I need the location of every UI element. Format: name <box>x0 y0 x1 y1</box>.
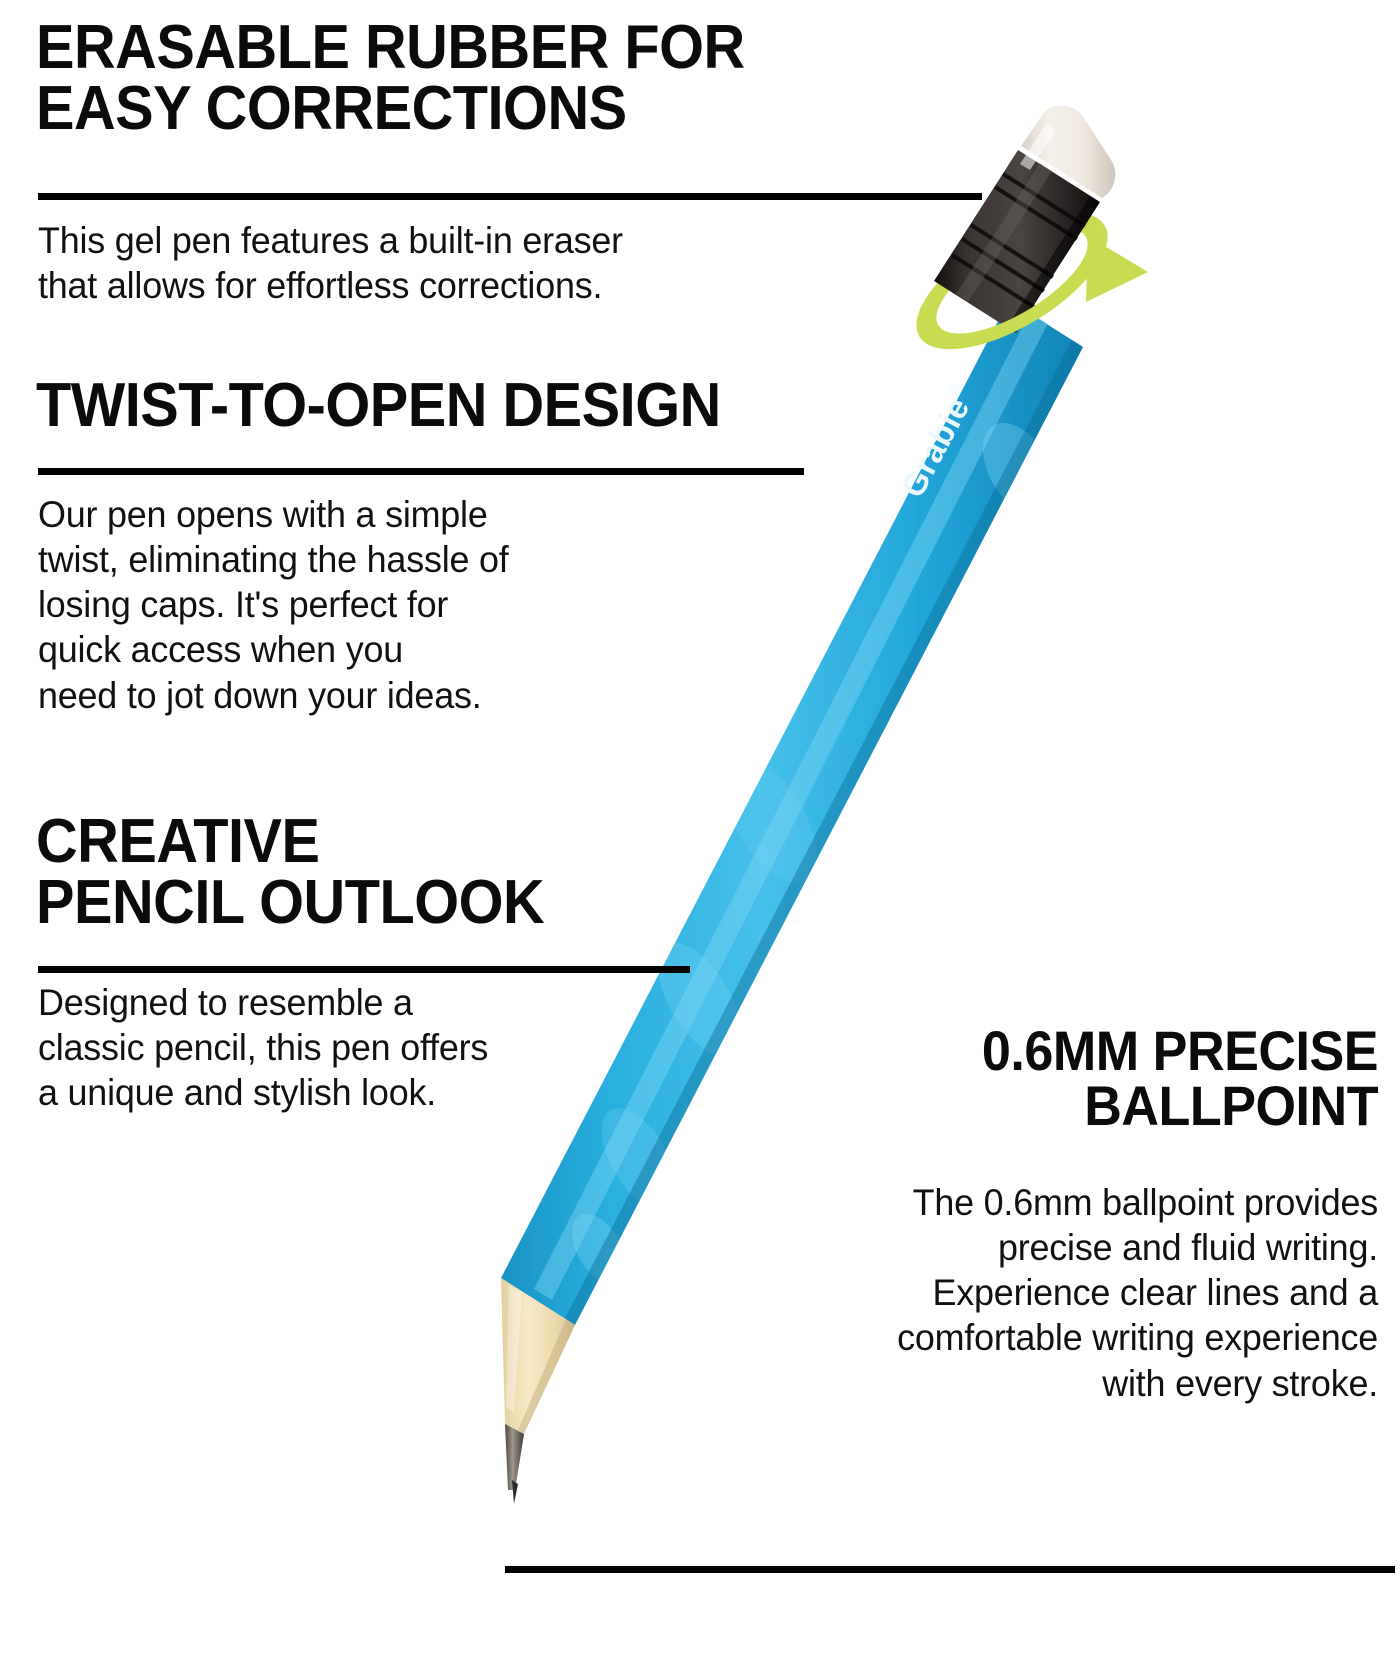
divider-rule-1 <box>38 193 982 200</box>
infographic-page: Grabie ® <box>0 0 1400 1680</box>
divider-rule-3 <box>38 966 690 973</box>
twist-grip <box>934 150 1100 333</box>
ballpoint-nib <box>505 1424 524 1504</box>
feature-body-precise-ballpoint: The 0.6mm ballpoint provides precise and… <box>777 1180 1378 1406</box>
divider-rule-4 <box>505 1566 1395 1573</box>
pen-tip-cone <box>501 1278 575 1434</box>
eraser-cap <box>1020 105 1115 198</box>
rotate-arrow-icon <box>896 186 1105 337</box>
brand-logo: Grabie ® <box>894 381 983 503</box>
feature-body-erasable-rubber: This gel pen features a built-in eraser … <box>38 218 795 308</box>
feature-body-creative-pencil-outlook: Designed to resemble a classic pencil, t… <box>38 980 620 1115</box>
divider-rule-2 <box>38 468 804 475</box>
feature-heading-twist-to-open: TWIST-TO-OPEN DESIGN <box>36 376 721 437</box>
rotate-arrow-front-icon <box>919 225 1148 376</box>
feature-heading-erasable-rubber: ERASABLE RUBBER FOR EASY CORRECTIONS <box>36 18 745 140</box>
arrowhead-icon <box>1086 236 1148 302</box>
brand-name: Grabie <box>894 391 977 503</box>
pen-barrel <box>501 300 1083 1325</box>
feature-heading-precise-ballpoint: 0.6MM PRECISE BALLPOINT <box>982 1024 1378 1134</box>
registered-mark-icon: ® <box>945 381 965 399</box>
feature-heading-creative-pencil-outlook: CREATIVE PENCIL OUTLOOK <box>36 812 544 934</box>
feature-body-twist-to-open: Our pen opens with a simple twist, elimi… <box>38 492 669 718</box>
